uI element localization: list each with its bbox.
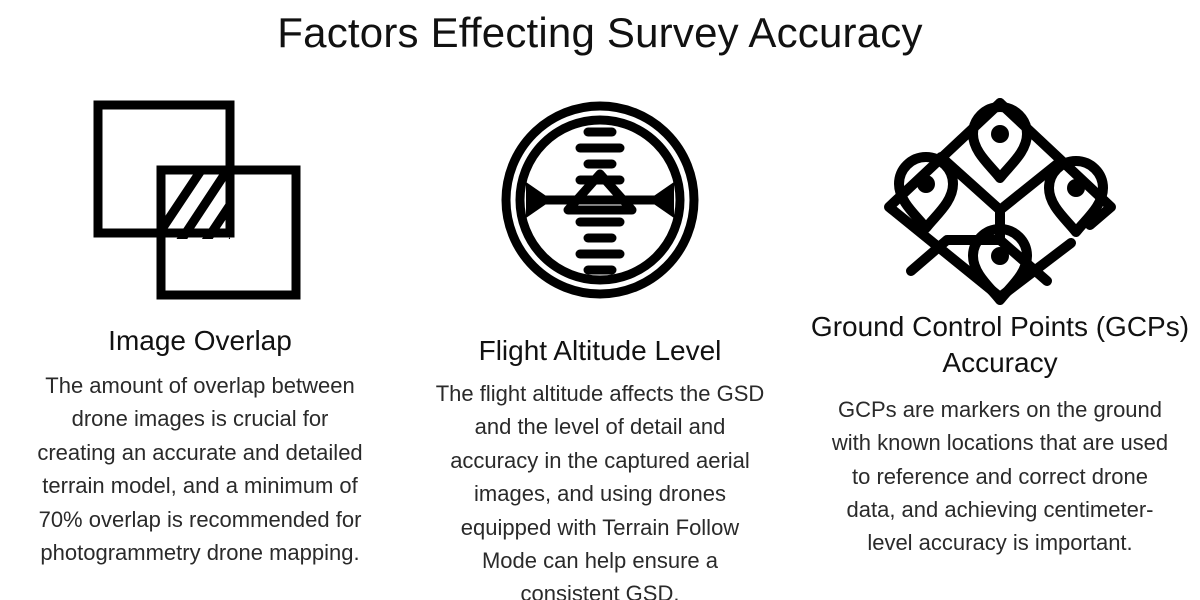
factor-card-image-overlap: Image Overlap The amount of overlap betw… (0, 92, 400, 569)
overlapping-squares-icon (90, 92, 310, 307)
map-pin-icon (973, 107, 1027, 178)
factor-heading: Flight Altitude Level (469, 333, 732, 369)
ground-control-points-map-icon (875, 92, 1125, 307)
page-title: Factors Effecting Survey Accuracy (0, 8, 1200, 58)
altitude-indicator-icon (500, 92, 700, 307)
factor-heading: Ground Control Points (GCPs) Accuracy (800, 309, 1200, 381)
factor-card-flight-altitude: Flight Altitude Level The flight altitud… (400, 92, 800, 600)
factor-body: The flight altitude affects the GSD and … (435, 377, 765, 600)
factor-body: The amount of overlap between drone imag… (35, 369, 365, 570)
factor-card-ground-control-points: Ground Control Points (GCPs) Accuracy GC… (800, 92, 1200, 560)
factor-body: GCPs are markers on the ground with know… (828, 393, 1173, 560)
factor-heading: Image Overlap (98, 323, 302, 359)
factors-columns: Image Overlap The amount of overlap betw… (0, 92, 1200, 600)
